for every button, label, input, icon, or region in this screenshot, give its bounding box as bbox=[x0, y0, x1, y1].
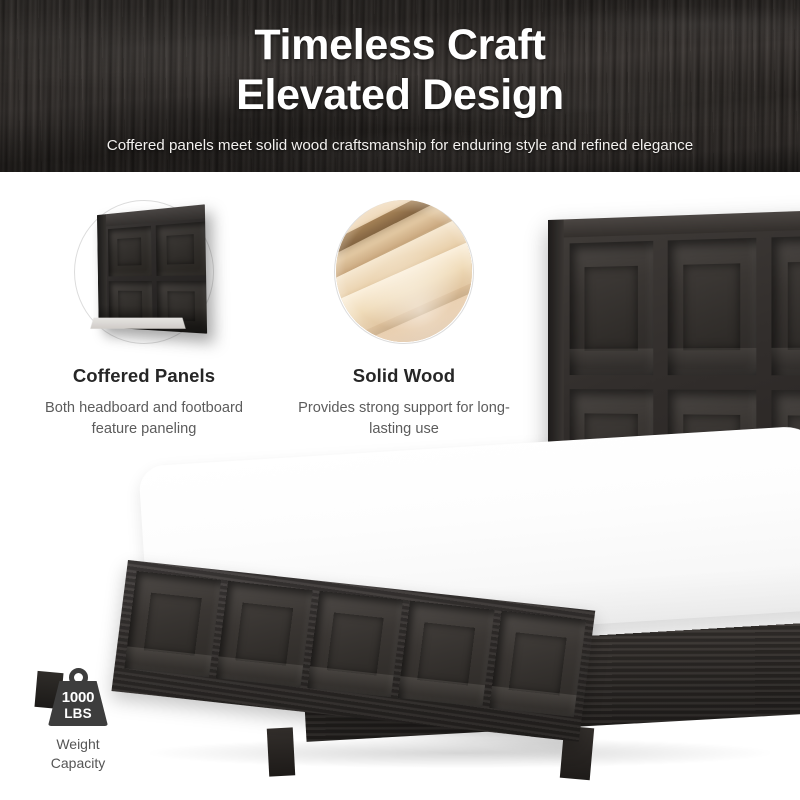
feature-coffered-panels: Coffered Panels Both headboard and footb… bbox=[14, 196, 274, 440]
feature-image-solid-wood bbox=[330, 196, 478, 348]
solid-wood-planks-icon bbox=[336, 200, 472, 342]
headboard-panel bbox=[771, 235, 800, 376]
feature-solid-wood: Solid Wood Provides strong support for l… bbox=[274, 196, 534, 440]
weight-capacity-badge: 1000 LBS Weight Capacity bbox=[22, 668, 134, 773]
weight-label-line-1: Weight bbox=[51, 735, 105, 754]
headline-subtitle: Coffered panels meet solid wood craftsma… bbox=[107, 136, 693, 156]
footboard-panel bbox=[307, 591, 404, 697]
feature-image-coffered-panels bbox=[70, 196, 218, 348]
footboard-panel bbox=[124, 571, 221, 677]
panel-base-shadow bbox=[90, 318, 185, 329]
weight-unit: LBS bbox=[64, 706, 92, 721]
footboard-panel bbox=[489, 611, 586, 717]
footboard-panel bbox=[216, 581, 313, 687]
feature-title: Solid Wood bbox=[353, 365, 455, 387]
coffered-panel-closeup-icon bbox=[97, 204, 207, 333]
marketing-infographic: Timeless Craft Elevated Design Coffered … bbox=[0, 0, 800, 800]
feature-description: Provides strong support for long-lasting… bbox=[289, 398, 519, 440]
headboard-panel bbox=[570, 241, 654, 375]
feature-description: Both headboard and footboard feature pan… bbox=[29, 398, 259, 440]
rail-leg bbox=[267, 727, 295, 776]
headline-line-1: Timeless Craft bbox=[254, 20, 545, 70]
footboard-panel bbox=[398, 601, 495, 707]
floor-shadow bbox=[150, 738, 770, 768]
headline-line-2: Elevated Design bbox=[236, 70, 564, 120]
weight-label-line-2: Capacity bbox=[51, 754, 105, 773]
headboard-panel bbox=[668, 238, 756, 375]
header-banner: Timeless Craft Elevated Design Coffered … bbox=[0, 0, 800, 172]
weight-amount: 1000 bbox=[62, 690, 95, 706]
feature-list: Coffered Panels Both headboard and footb… bbox=[14, 196, 534, 440]
feature-title: Coffered Panels bbox=[73, 365, 215, 387]
weight-capacity-label: Weight Capacity bbox=[51, 735, 105, 773]
weight-body: 1000 LBS bbox=[48, 681, 108, 726]
weight-icon: 1000 LBS bbox=[42, 668, 114, 726]
